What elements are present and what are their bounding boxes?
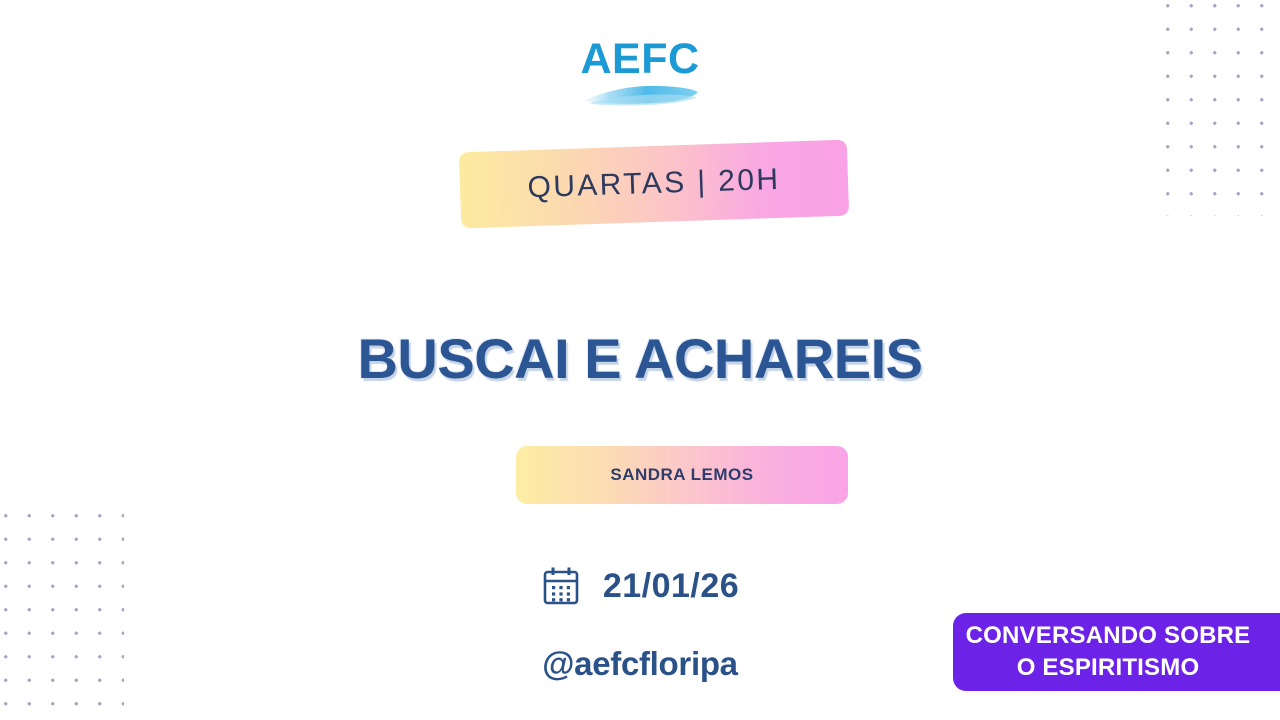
brand-logo: AEFC: [0, 38, 1280, 108]
dot-grid-icon-bottom-left: [0, 504, 124, 720]
series-badge-line-2: O ESPIRITISMO: [1017, 652, 1200, 684]
page-title: BUSCAI E ACHAREIS: [0, 326, 1280, 391]
event-date-value: 21/01/26: [603, 567, 739, 606]
speaker-badge: SANDRA LEMOS: [516, 446, 848, 504]
series-badge: CONVERSANDO SOBRE O ESPIRITISMO: [953, 613, 1280, 691]
logo-wordmark: AEFC: [580, 38, 699, 81]
speaker-name: SANDRA LEMOS: [610, 465, 753, 485]
schedule-banner: QUARTAS | 20H: [459, 140, 849, 229]
poster-canvas: AEFC QUARTAS | 20H BUSCAI E ACHAREIS SAN…: [0, 0, 1280, 720]
swoosh-icon: [581, 82, 699, 108]
schedule-banner-label: QUARTAS | 20H: [527, 163, 781, 205]
calendar-icon: [541, 565, 581, 607]
social-handle-text[interactable]: @aefcfloripa: [542, 645, 737, 682]
page-title-text: BUSCAI E ACHAREIS: [357, 327, 922, 390]
event-date: 21/01/26: [0, 565, 1280, 607]
series-badge-line-1: CONVERSANDO SOBRE: [966, 620, 1251, 652]
dot-grid-icon-top-right: [1156, 0, 1280, 216]
